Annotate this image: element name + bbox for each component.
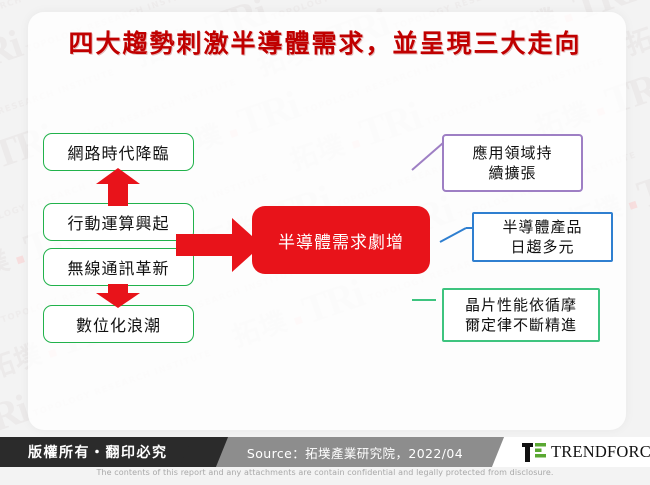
arrow-down-icon — [96, 284, 140, 308]
driver-box-1-label: 網路時代降臨 — [67, 140, 169, 164]
copyright-text: 版權所有・翻印必究 — [28, 437, 168, 467]
driver-box-3-label: 無線通訊革新 — [67, 255, 169, 279]
page-title: 四大趨勢刺激半導體需求，並呈現三大走向 — [0, 24, 650, 60]
slide-canvas: 拓墣TRiTOPOLOGY RESEARCH INSTITUTE拓墣TRiTOP… — [0, 0, 650, 485]
outcome-box-2-line2: 日趨多元 — [510, 237, 574, 257]
driver-box-3[interactable]: 無線通訊革新 — [43, 248, 194, 286]
center-demand-label: 半導體需求劇增 — [278, 228, 404, 253]
outcome-box-2-line1: 半導體產品 — [502, 217, 582, 237]
center-demand-box[interactable]: 半導體需求劇增 — [252, 206, 430, 274]
outcome-box-3[interactable]: 晶片性能依循摩 爾定律不斷精進 — [442, 288, 600, 342]
driver-box-4-label: 數位化浪潮 — [76, 312, 161, 336]
arrow-up-icon — [96, 168, 140, 206]
arrow-right-icon — [176, 218, 262, 272]
outcome-box-1-line2: 續擴張 — [488, 163, 536, 183]
outcome-box-1-line1: 應用領域持 — [472, 143, 552, 163]
outcome-box-1[interactable]: 應用領域持 續擴張 — [442, 134, 583, 192]
driver-box-2-label: 行動運算興起 — [67, 210, 169, 234]
trendforce-mark-icon — [522, 443, 546, 462]
footer-bar: 版權所有・翻印必究 Source：拓墣產業研究院，2022/04 TRENDFO… — [0, 437, 650, 467]
trendforce-logo: TRENDFORCE — [522, 437, 650, 467]
trendforce-wordmark: TRENDFORCE — [551, 442, 650, 462]
driver-box-2[interactable]: 行動運算興起 — [43, 203, 194, 241]
driver-box-4[interactable]: 數位化浪潮 — [43, 305, 194, 343]
outcome-box-2[interactable]: 半導體產品 日趨多元 — [472, 212, 613, 262]
source-text: Source：拓墣產業研究院，2022/04 — [205, 437, 505, 467]
outcome-box-3-line2: 爾定律不斷精進 — [465, 315, 577, 335]
driver-box-1[interactable]: 網路時代降臨 — [43, 133, 194, 171]
disclaimer-text: The contents of this report and any atta… — [0, 468, 650, 477]
outcome-box-3-line1: 晶片性能依循摩 — [465, 295, 577, 315]
